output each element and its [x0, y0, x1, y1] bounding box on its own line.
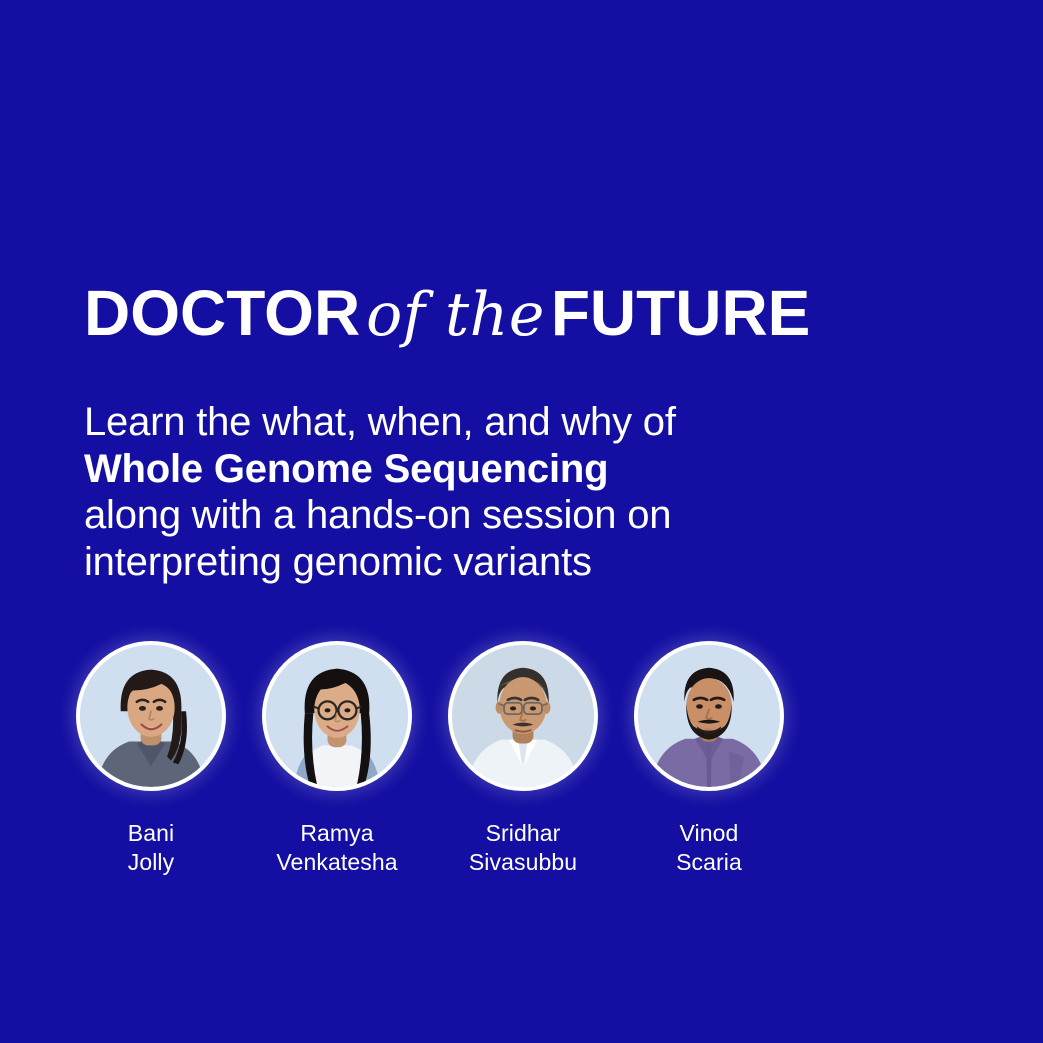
- speaker-name: Ramya Venkatesha: [276, 819, 397, 877]
- speaker-last-name: Jolly: [128, 849, 175, 875]
- avatar: [262, 641, 412, 791]
- portrait-image-icon: [638, 645, 780, 787]
- title-part-doctor: DOCTOR: [84, 277, 360, 349]
- speaker-first-name: Vinod: [680, 820, 739, 846]
- subtitle-line-1: Learn the what, when, and why of: [84, 399, 914, 446]
- subtitle: Learn the what, when, and why of Whole G…: [84, 399, 914, 585]
- speaker-name: Sridhar Sivasubbu: [469, 819, 577, 877]
- speaker-name: Bani Jolly: [128, 819, 175, 877]
- poster-canvas: DOCTORof theFUTURE Learn the what, when,…: [0, 0, 1043, 1043]
- avatar: [76, 641, 226, 791]
- speaker-name: Vinod Scaria: [676, 819, 742, 877]
- speaker-last-name: Scaria: [676, 849, 742, 875]
- portrait-image-icon: [452, 645, 594, 787]
- subtitle-line-4: interpreting genomic variants: [84, 539, 914, 586]
- portrait-image-icon: [80, 645, 222, 787]
- title-line: DOCTORof theFUTURE: [84, 281, 964, 345]
- speaker-last-name: Venkatesha: [276, 849, 397, 875]
- speaker-first-name: Bani: [128, 820, 174, 846]
- subtitle-line-3: along with a hands-on session on: [84, 492, 914, 539]
- title-part-future: FUTURE: [551, 277, 811, 349]
- speaker-list: Bani Jolly: [76, 641, 786, 877]
- avatar: [634, 641, 784, 791]
- speaker-card: Vinod Scaria: [634, 641, 784, 877]
- speaker-card: Bani Jolly: [76, 641, 226, 877]
- speaker-last-name: Sivasubbu: [469, 849, 577, 875]
- speaker-first-name: Sridhar: [486, 820, 561, 846]
- speaker-first-name: Ramya: [300, 820, 373, 846]
- speaker-card: Sridhar Sivasubbu: [448, 641, 598, 877]
- page-title: DOCTORof theFUTURE: [84, 281, 964, 345]
- speaker-card: Ramya Venkatesha: [262, 641, 412, 877]
- avatar: [448, 641, 598, 791]
- subtitle-line-2-highlight: Whole Genome Sequencing: [84, 446, 914, 493]
- title-part-of-the: of the: [360, 280, 551, 350]
- portrait-image-icon: [266, 645, 408, 787]
